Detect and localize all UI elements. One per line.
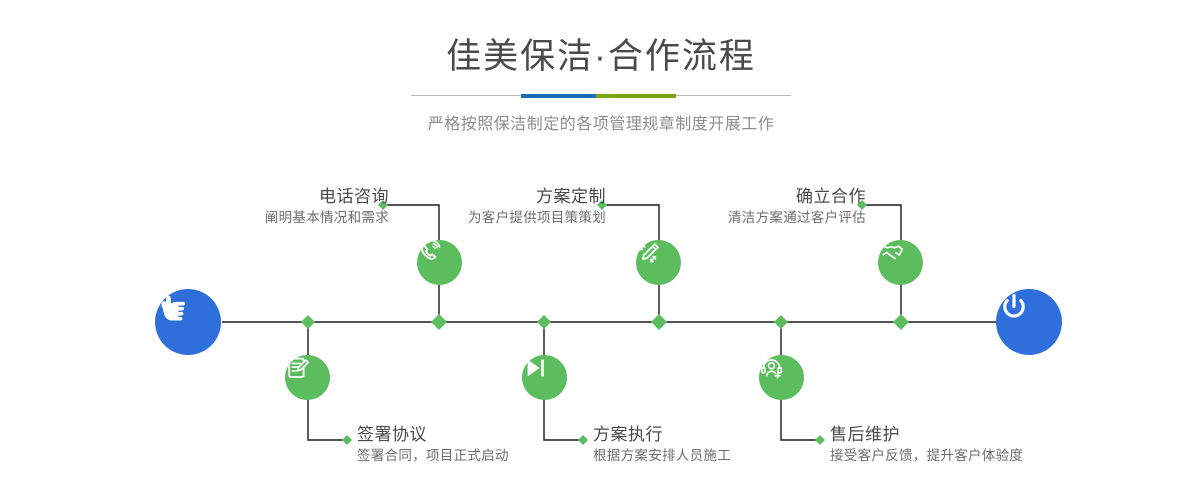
step-node-5[interactable] — [878, 240, 923, 285]
step-title-5: 确立合作 — [728, 186, 866, 208]
step-title-4: 方案执行 — [593, 424, 731, 446]
process-flow: 电话咨询 阐明基本情况和需求 方案定制 为客户提供项目策策划 — [0, 0, 1202, 502]
step-label-5: 确立合作 清洁方案通过客户评估 — [728, 186, 866, 228]
step-label-4: 方案执行 根据方案安排人员施工 — [593, 424, 731, 466]
step-node-6[interactable] — [759, 355, 804, 400]
step-label-3: 方案定制 为客户提供项目策策划 — [468, 186, 606, 228]
step-title-2: 签署协议 — [357, 424, 509, 446]
step-label-2: 签署协议 签署合同，项目正式启动 — [357, 424, 509, 466]
step-desc-6: 接受客户反馈，提升客户体验度 — [830, 446, 1023, 466]
flow-end-node[interactable] — [996, 289, 1062, 355]
step-label-6: 售后维护 接受客户反馈，提升客户体验度 — [830, 424, 1023, 466]
step-node-2[interactable] — [285, 355, 330, 400]
cooperation-process-infographic: 佳美保洁·合作流程 严格按照保洁制定的各项管理规章制度开展工作 — [0, 0, 1202, 502]
step-title-1: 电话咨询 — [265, 186, 389, 208]
step-title-3: 方案定制 — [468, 186, 606, 208]
step-label-1: 电话咨询 阐明基本情况和需求 — [265, 186, 389, 228]
step-desc-4: 根据方案安排人员施工 — [593, 446, 731, 466]
step-node-3[interactable] — [636, 240, 681, 285]
step-node-1[interactable] — [417, 240, 462, 285]
step-node-4[interactable] — [522, 355, 567, 400]
step-desc-5: 清洁方案通过客户评估 — [728, 208, 866, 228]
step-desc-1: 阐明基本情况和需求 — [265, 208, 389, 228]
step-desc-2: 签署合同，项目正式启动 — [357, 446, 509, 466]
flow-start-node[interactable] — [155, 289, 221, 355]
step-title-6: 售后维护 — [830, 424, 1023, 446]
step-desc-3: 为客户提供项目策策划 — [468, 208, 606, 228]
